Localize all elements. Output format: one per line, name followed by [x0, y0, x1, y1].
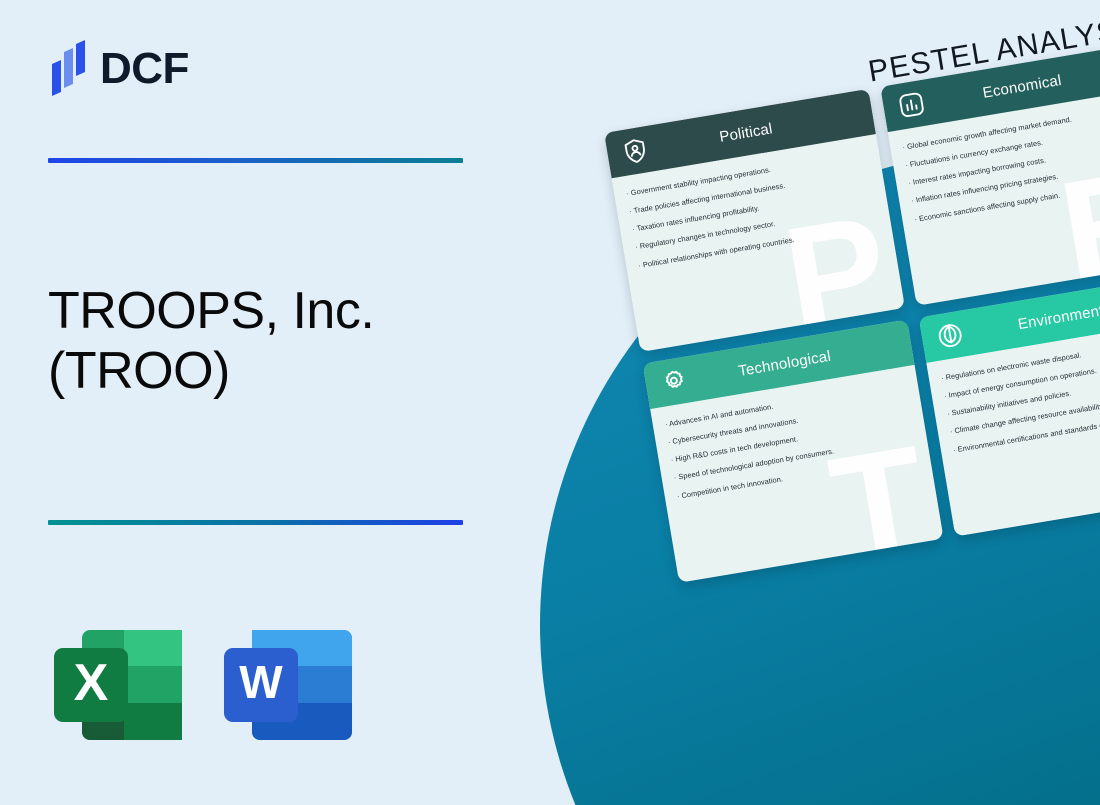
brand-logo[interactable]: DCF — [48, 40, 189, 98]
left-content-panel: DCF TROOPS, Inc. (TROO) X — [0, 0, 560, 805]
shield-person-icon — [619, 135, 651, 167]
pestel-card-environment-title: Environment — [963, 290, 1100, 342]
dcf-bars-logo-icon — [48, 40, 90, 98]
page-title: TROOPS, Inc. (TROO) — [48, 282, 518, 402]
pestel-card-environment[interactable]: Environment E Regulations on electronic … — [919, 273, 1100, 536]
svg-text:X: X — [74, 654, 109, 712]
leaf-icon — [934, 320, 966, 352]
company-ticker: (TROO) — [48, 342, 230, 400]
pestel-card-technological[interactable]: Technological T Advances in AI and autom… — [643, 320, 944, 583]
bar-chart-icon — [895, 89, 927, 121]
divider-top — [48, 158, 463, 163]
slide-canvas: PESTEL ANALYSIS Political P — [0, 0, 1100, 805]
divider-bottom — [48, 520, 463, 525]
excel-file-icon[interactable]: X — [48, 622, 188, 748]
brand-name: DCF — [100, 47, 189, 91]
pestel-card-political[interactable]: Political P Government stability impacti… — [604, 89, 905, 352]
word-file-icon[interactable]: W — [218, 622, 358, 748]
gear-icon — [658, 366, 690, 398]
company-name: TROOPS, Inc. — [48, 282, 374, 340]
download-icons: X W — [48, 622, 358, 748]
pestel-card-grid: Political P Government stability impacti… — [604, 41, 1100, 597]
svg-text:W: W — [239, 656, 283, 708]
